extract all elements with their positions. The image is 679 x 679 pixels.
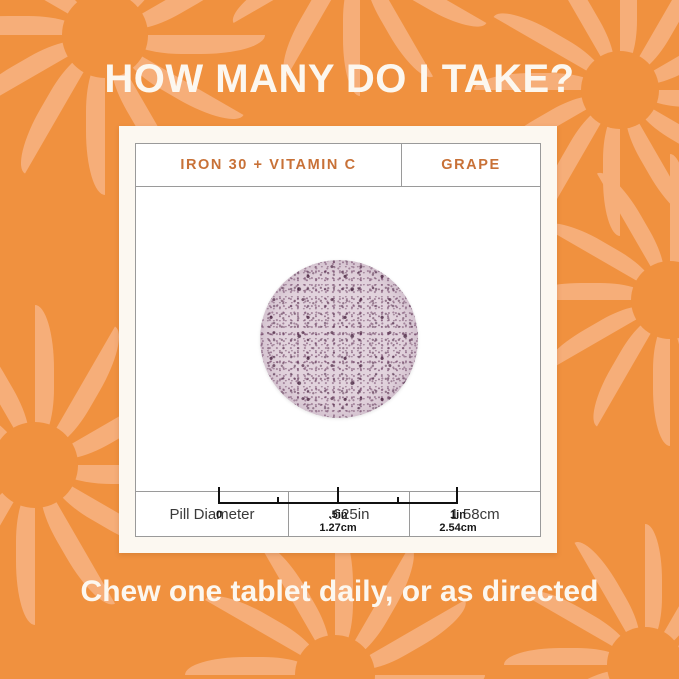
citrus-segment — [0, 465, 118, 679]
citrus-segment — [670, 225, 679, 430]
citrus-segment — [670, 150, 679, 300]
promo-graphic: HOW MANY DO I TAKE? IRON 30 + VITAMIN C … — [0, 0, 679, 679]
citrus-segment — [540, 95, 679, 300]
citrus-segment — [180, 675, 335, 679]
citrus-segment — [595, 300, 679, 505]
citrus-segment — [0, 240, 118, 465]
label-table: IRON 30 + VITAMIN C GRAPE 0.5in1.27cm1in… — [135, 143, 541, 537]
citrus-segment — [201, 675, 413, 679]
product-flavor: GRAPE — [402, 144, 540, 186]
tablet-image — [260, 260, 418, 418]
product-name: IRON 30 + VITAMIN C — [136, 144, 402, 186]
ruler-tick — [337, 487, 339, 504]
ruler-label-inches: .5in — [298, 509, 378, 522]
ruler-label-inches: 0 — [216, 509, 296, 522]
citrus-core — [631, 261, 679, 339]
ruler-label-inches: 1in — [418, 509, 498, 522]
ruler-tick — [218, 487, 220, 504]
citrus-segment — [519, 665, 679, 679]
citrus-core — [607, 627, 679, 679]
citrus-segment — [105, 0, 270, 35]
citrus-core — [295, 635, 376, 679]
citrus-segment — [0, 0, 188, 35]
citrus-segment — [645, 665, 679, 679]
citrus-segment — [0, 0, 105, 35]
citrus-segment — [620, 15, 679, 220]
citrus-segment — [23, 0, 248, 35]
ruler-tick — [277, 497, 279, 504]
label-body: 0.5in1.27cm1in2.54cm — [136, 187, 540, 491]
citrus-segment — [595, 95, 679, 300]
citrus-segment — [573, 665, 679, 679]
citrus-segment — [155, 0, 360, 25]
citrus-segment — [0, 300, 35, 465]
citrus-segment — [0, 322, 35, 547]
citrus-segment — [540, 300, 679, 505]
ruler-tick — [397, 497, 399, 504]
citrus-segment — [258, 675, 470, 679]
citrus-segment — [670, 170, 679, 375]
ruler-tick-label: 0 — [216, 509, 296, 522]
citrus-segment — [335, 675, 490, 679]
dosage-caption: Chew one tablet daily, or as directed — [0, 574, 679, 610]
ruler-label-centimeters: 2.54cm — [418, 522, 498, 535]
ruler-tick — [456, 487, 458, 504]
page-title: HOW MANY DO I TAKE? — [0, 56, 679, 102]
label-header-row: IRON 30 + VITAMIN C GRAPE — [136, 144, 540, 187]
citrus-segment — [573, 467, 679, 665]
citrus-segment — [670, 300, 679, 450]
ruler-tick-label: 1in2.54cm — [418, 509, 498, 535]
citrus-segment — [620, 90, 679, 240]
citrus-segment — [360, 0, 565, 25]
ruler-label-centimeters: 1.27cm — [298, 522, 378, 535]
ruler-labels: 0.5in1.27cm1in2.54cm — [218, 509, 458, 543]
product-label-card: IRON 30 + VITAMIN C GRAPE 0.5in1.27cm1in… — [119, 126, 557, 553]
citrus-core — [0, 422, 78, 508]
citrus-segment — [500, 665, 645, 679]
ruler-tick-label: .5in1.27cm — [298, 509, 378, 535]
citrus-segment — [545, 90, 679, 295]
ruler-scale — [218, 485, 458, 507]
